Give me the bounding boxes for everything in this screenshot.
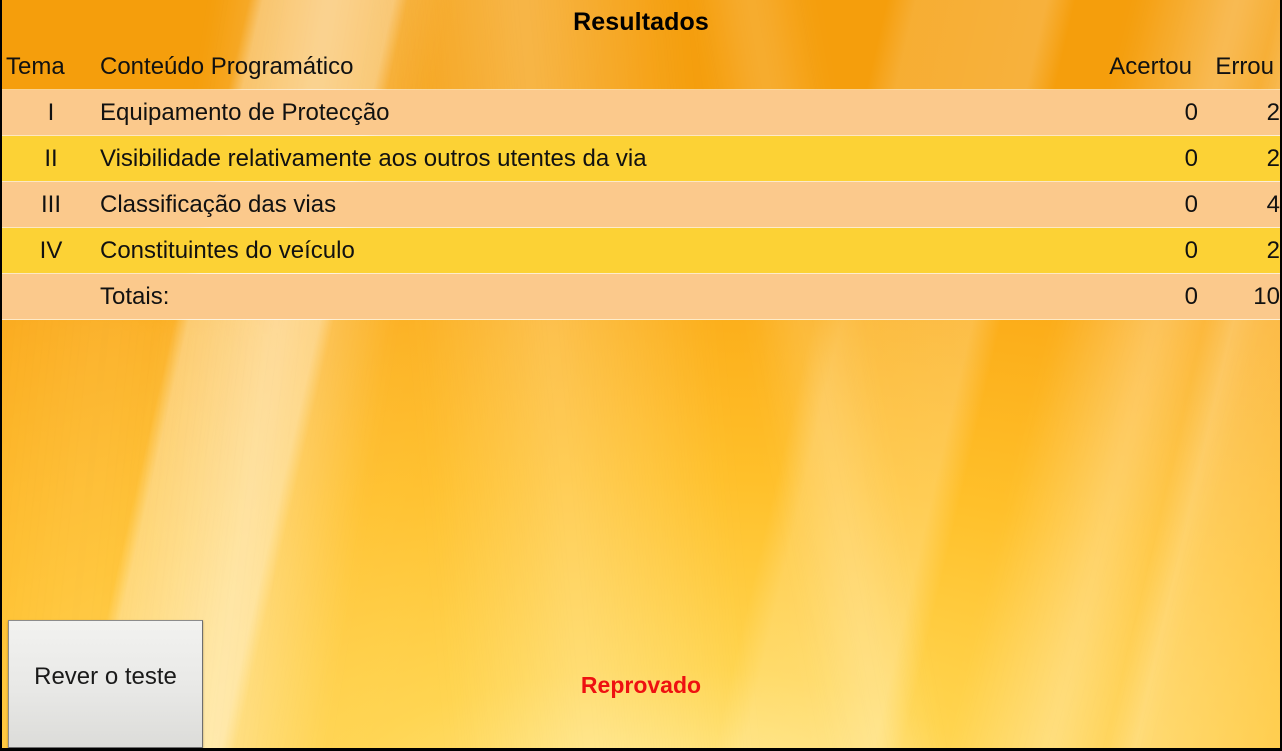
cell-conteudo: Equipamento de Protecção [100, 90, 1088, 136]
table-row: I Equipamento de Protecção 0 2 [2, 90, 1280, 136]
page-title: Resultados [573, 8, 709, 37]
column-header-acertou: Acertou [1088, 44, 1198, 90]
cell-totals-label: Totais: [100, 274, 1088, 320]
cell-tema: II [2, 136, 100, 182]
cell-acertou-total: 0 [1088, 274, 1198, 320]
column-header-conteudo: Conteúdo Programático [100, 44, 1088, 90]
cell-errou: 4 [1198, 182, 1280, 228]
column-header-tema: Tema [2, 44, 100, 90]
cell-errou: 2 [1198, 90, 1280, 136]
cell-tema: III [2, 182, 100, 228]
results-screen: Resultados Tema Conteúdo Programático Ac… [0, 0, 1282, 751]
status-badge: Reprovado [2, 672, 1280, 699]
cell-tema: IV [2, 228, 100, 274]
cell-conteudo: Constituintes do veículo [100, 228, 1088, 274]
cell-tema: I [2, 90, 100, 136]
table-row: IV Constituintes do veículo 0 2 [2, 228, 1280, 274]
table-header-row: Tema Conteúdo Programático Acertou Errou [2, 44, 1280, 90]
cell-errou: 2 [1198, 136, 1280, 182]
cell-acertou: 0 [1088, 90, 1198, 136]
title-bar: Resultados [2, 0, 1280, 44]
cell-acertou: 0 [1088, 228, 1198, 274]
results-table: Tema Conteúdo Programático Acertou Errou… [2, 44, 1280, 320]
cell-errou-total: 10 [1198, 274, 1280, 320]
table-totals-row: Totais: 0 10 [2, 274, 1280, 320]
table-row: II Visibilidade relativamente aos outros… [2, 136, 1280, 182]
column-header-errou: Errou [1198, 44, 1280, 90]
cell-errou: 2 [1198, 228, 1280, 274]
cell-conteudo: Classificação das vias [100, 182, 1088, 228]
cell-acertou: 0 [1088, 136, 1198, 182]
cell-tema-total [2, 274, 100, 320]
cell-conteudo: Visibilidade relativamente aos outros ut… [100, 136, 1088, 182]
table-row: III Classificação das vias 0 4 [2, 182, 1280, 228]
cell-acertou: 0 [1088, 182, 1198, 228]
